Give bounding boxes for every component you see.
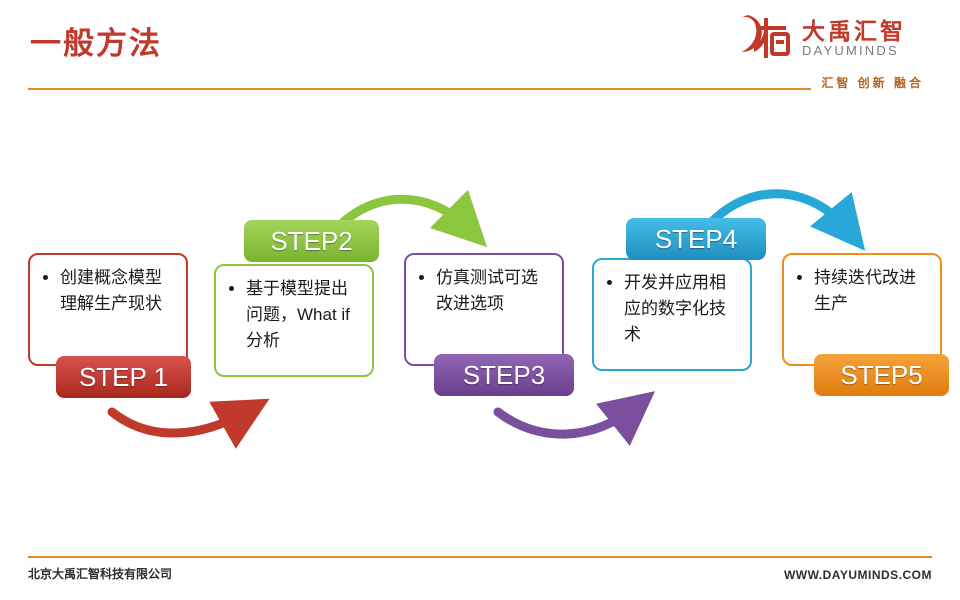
step-label-text: STEP3	[463, 360, 545, 391]
header-divider	[28, 88, 932, 90]
step-label-text: STEP 1	[79, 362, 168, 393]
header-tagline: 汇智 创新 融合	[811, 74, 932, 91]
step-label-4[interactable]: STEP4	[626, 218, 766, 260]
footer-divider	[28, 556, 932, 558]
step-label-text: STEP5	[840, 360, 922, 391]
footer-website: WWW.DAYUMINDS.COM	[784, 568, 932, 582]
process-flow-diagram: 创建概念模型理解生产现状 STEP 1 基于模型提出问题，What if 分析 …	[0, 150, 960, 510]
step-label-2[interactable]: STEP2	[244, 220, 379, 262]
logo-chinese-name: 大禹汇智	[802, 12, 906, 46]
step-card-1[interactable]: 创建概念模型理解生产现状	[28, 253, 188, 366]
logo: 大禹汇智 DAYUMINDS	[734, 10, 934, 68]
step-bullet: 开发并应用相应的数字化技术	[624, 270, 738, 348]
step-label-5[interactable]: STEP5	[814, 354, 949, 396]
step-label-3[interactable]: STEP3	[434, 354, 574, 396]
step-card-3[interactable]: 仿真测试可选改进选项	[404, 253, 564, 366]
step-card-4[interactable]: 开发并应用相应的数字化技术	[592, 258, 752, 371]
step-bullet: 创建概念模型理解生产现状	[60, 265, 174, 317]
step-bullet: 持续迭代改进生产	[814, 265, 928, 317]
step-card-5[interactable]: 持续迭代改进生产	[782, 253, 942, 366]
step-label-1[interactable]: STEP 1	[56, 356, 191, 398]
step-card-2[interactable]: 基于模型提出问题，What if 分析	[214, 264, 374, 377]
step-label-text: STEP4	[655, 224, 737, 255]
step-bullet: 基于模型提出问题，What if 分析	[246, 276, 360, 354]
step-label-text: STEP2	[270, 226, 352, 257]
logo-mark-icon	[734, 12, 796, 64]
arrow-step1-to-step2	[112, 412, 246, 433]
page-title: 一般方法	[30, 18, 162, 63]
arrow-step3-to-step4	[498, 408, 634, 434]
footer-company: 北京大禹汇智科技有限公司	[28, 565, 172, 582]
step-bullet: 仿真测试可选改进选项	[436, 265, 550, 317]
logo-english-name: DAYUMINDS	[802, 43, 899, 58]
